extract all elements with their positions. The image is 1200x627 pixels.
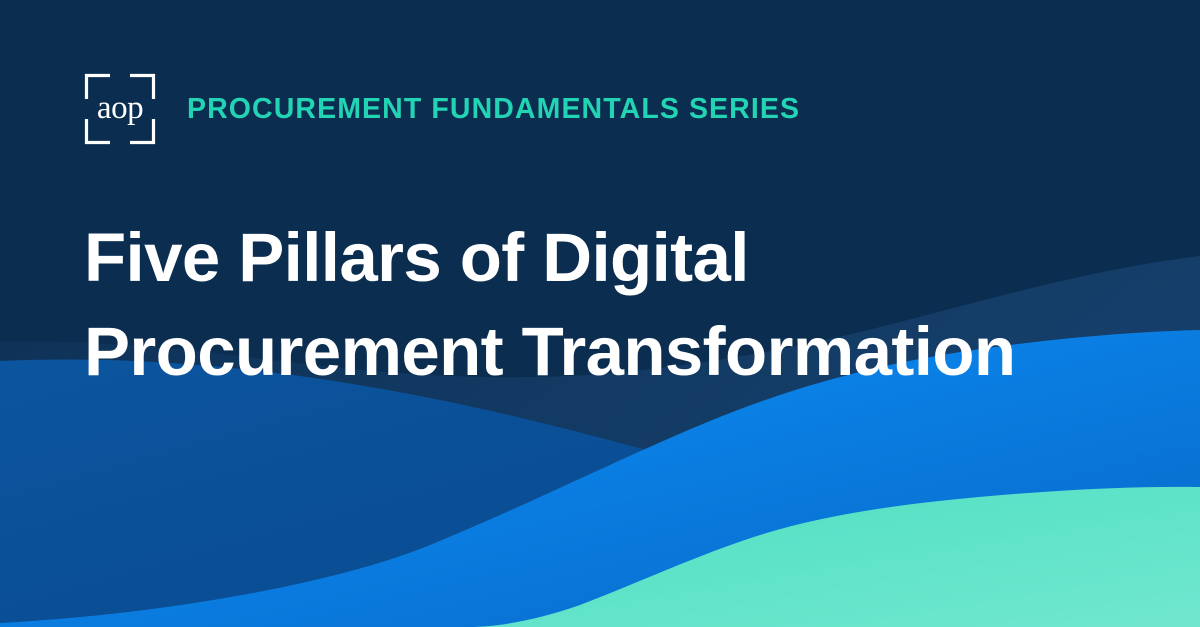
promo-banner: aop PROCUREMENT FUNDAMENTALS SERIES Five… — [0, 0, 1200, 627]
series-eyebrow-label: PROCUREMENT FUNDAMENTALS SERIES — [187, 93, 800, 126]
eyebrow-row: aop PROCUREMENT FUNDAMENTALS SERIES — [84, 73, 800, 145]
page-title: Five Pillars of Digital Procurement Tran… — [84, 211, 1144, 399]
page-title-line-2: Procurement Transformation — [84, 305, 1144, 399]
page-title-line-1: Five Pillars of Digital — [84, 211, 1144, 305]
aop-logo: aop — [84, 73, 156, 145]
aop-logo-text: aop — [84, 73, 156, 145]
banner-content: aop PROCUREMENT FUNDAMENTALS SERIES Five… — [0, 0, 1200, 627]
